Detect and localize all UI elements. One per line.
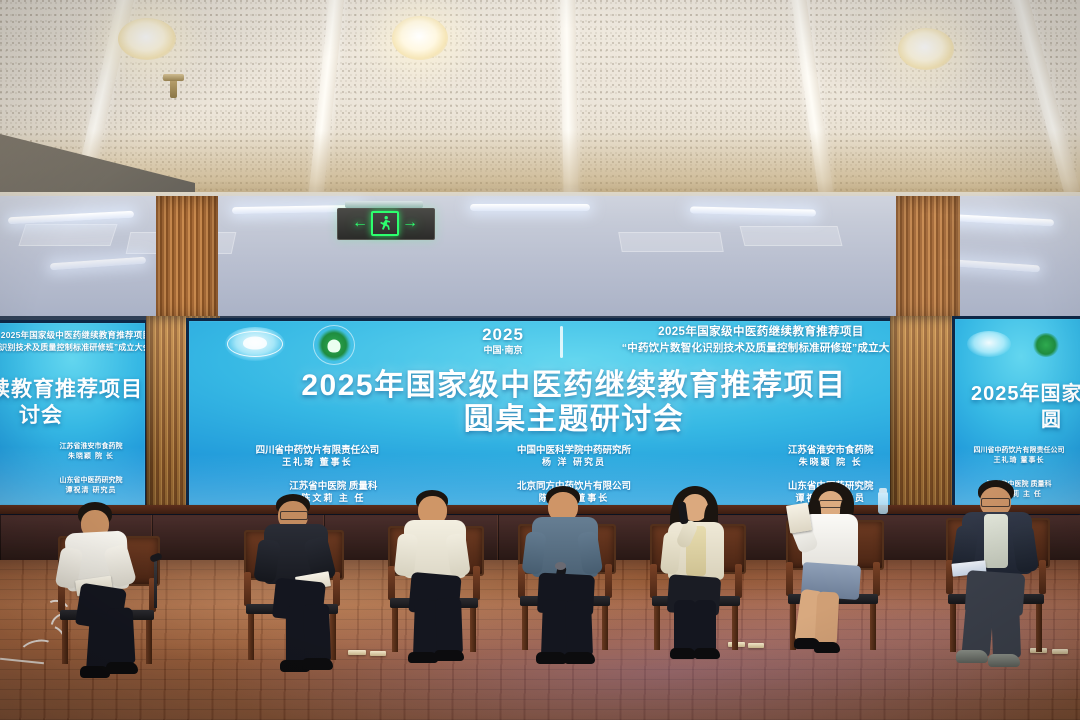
event-city: 中国·南京 xyxy=(455,346,551,355)
running-man-glyph xyxy=(379,216,391,231)
institute-emblem-logo-icon xyxy=(967,331,1011,357)
stage-floor-marker xyxy=(370,651,386,656)
shoe xyxy=(814,642,840,653)
leg xyxy=(694,600,716,652)
exit-right-arrow-icon: → xyxy=(402,215,418,231)
stage-floor-marker xyxy=(748,643,764,648)
ceiling-panel xyxy=(618,232,724,252)
side-screen-left: 2025年国家级中医药继续教育推荐项目 化识别技术及质量控制标准研修班”成立大会… xyxy=(0,320,148,526)
leg xyxy=(303,604,331,663)
ceiling xyxy=(0,0,1080,200)
institute-emblem-logo-icon xyxy=(225,327,285,361)
shoe xyxy=(694,648,720,659)
water-bottle-cap xyxy=(879,488,887,493)
shirt-inner xyxy=(984,514,1008,568)
panelist-7 xyxy=(952,480,1058,674)
side-left-top-line-1: 2025年国家级中医药继续教育推荐项目 xyxy=(0,329,148,341)
shoe xyxy=(302,658,333,670)
shoe xyxy=(106,662,138,674)
header-divider xyxy=(560,326,563,358)
side-right-title-line-2: 圆 xyxy=(1041,403,1080,432)
leg xyxy=(962,597,995,657)
screen-main-title: 2025年国家级中医药继续教育推荐项目 圆桌主题研讨会 xyxy=(189,369,959,436)
panelist-org: 四川省中药饮片有限责任公司 xyxy=(189,445,446,457)
shoe-sneaker xyxy=(956,650,988,663)
shoe xyxy=(434,650,464,661)
logo-core xyxy=(980,339,998,349)
shoe xyxy=(564,652,595,664)
microphone-head-icon xyxy=(555,562,566,570)
side-right-panelist-a-org: 四川省中药饮片有限责任公司 xyxy=(963,445,1075,455)
main-title-line-1: 2025年国家级中医药继续教育推荐项目 xyxy=(189,369,959,403)
green-medicine-emblem-logo-icon xyxy=(1033,333,1059,357)
leg xyxy=(435,598,463,655)
panelist-3 xyxy=(392,490,492,672)
exit-left-arrow-icon: ← xyxy=(352,215,368,231)
side-left-title-line-2: 讨会 xyxy=(0,399,63,429)
sprinkler-base xyxy=(163,74,184,81)
glasses-icon xyxy=(981,498,1010,507)
linear-ceiling-light xyxy=(470,204,590,211)
shoe xyxy=(670,648,696,659)
logo-core xyxy=(243,337,267,350)
chair-arm xyxy=(244,572,251,606)
panelist-credit: 四川省中药饮片有限责任公司 王礼琦 董事长 xyxy=(189,445,446,469)
linear-ceiling-light xyxy=(50,257,146,271)
emergency-exit-sign: ← → xyxy=(337,200,433,238)
leg xyxy=(107,607,136,664)
side-left-panelist-a-person: 朱晓颖 院 长 xyxy=(39,451,143,461)
panelist-2 xyxy=(252,494,358,684)
panelist-person: 王礼琦 董事长 xyxy=(189,457,446,469)
microphone-stand xyxy=(146,552,166,608)
linear-ceiling-light xyxy=(690,206,816,216)
exit-sign-mount-bar xyxy=(345,201,423,208)
side-right-panelist-a-person: 王礼琦 董事长 xyxy=(963,455,1075,465)
ceiling-panel xyxy=(740,226,843,246)
panelist-5 xyxy=(654,486,750,670)
event-year: 2025 xyxy=(455,326,551,343)
exit-sign-face: ← → xyxy=(341,211,429,235)
document-paper[interactable] xyxy=(786,502,812,533)
wall-wood-column-upper xyxy=(156,196,218,320)
shoe xyxy=(536,652,567,664)
main-title-line-2: 圆桌主题研讨会 xyxy=(189,403,959,437)
panelist-org: 中国中医科学院中药研究所 xyxy=(446,445,703,457)
panelist-credit: 中国中医科学院中药研究所 杨 洋 研究员 xyxy=(446,445,703,469)
green-medicine-emblem-logo-icon xyxy=(317,329,351,361)
side-left-panelist-b-person: 谭祝清 研究员 xyxy=(39,485,143,495)
side-left-panelist-b-org: 山东省中医药研究院 xyxy=(39,475,143,485)
wall-wood-column-upper xyxy=(896,196,960,320)
logo-core xyxy=(328,339,341,352)
ceiling-light xyxy=(392,16,448,60)
conference-hall-scene: ← → 2025年国家级中医药继续教育推荐项目 化识别技术及质量控制标准研修班”… xyxy=(0,0,1080,720)
linear-ceiling-light xyxy=(8,211,134,225)
side-left-top-line-2: 化识别技术及质量控制标准研修班”成立大会 xyxy=(0,342,148,353)
ceiling-panel xyxy=(18,224,117,246)
glasses-icon xyxy=(280,511,308,520)
event-year-block: 2025 中国·南京 xyxy=(455,326,551,355)
panelist-4 xyxy=(520,486,622,672)
leg xyxy=(815,591,840,644)
leg xyxy=(565,600,593,657)
shoe-sneaker xyxy=(988,654,1020,667)
panelist-6 xyxy=(788,482,886,670)
water-bottle xyxy=(878,492,888,514)
panelist-person: 杨 洋 研究员 xyxy=(446,457,703,469)
leg xyxy=(674,600,696,652)
side-left-panelist-a-org: 江苏省淮安市食药院 xyxy=(39,441,143,451)
ceiling-light xyxy=(118,18,176,60)
logo-core xyxy=(1041,340,1051,350)
side-right-title: 2025年国家级 xyxy=(971,377,1080,406)
leg xyxy=(991,600,1021,659)
mic-stand-pole xyxy=(154,560,157,608)
exit-running-man-icon xyxy=(371,211,399,236)
ceiling-light xyxy=(898,28,954,70)
